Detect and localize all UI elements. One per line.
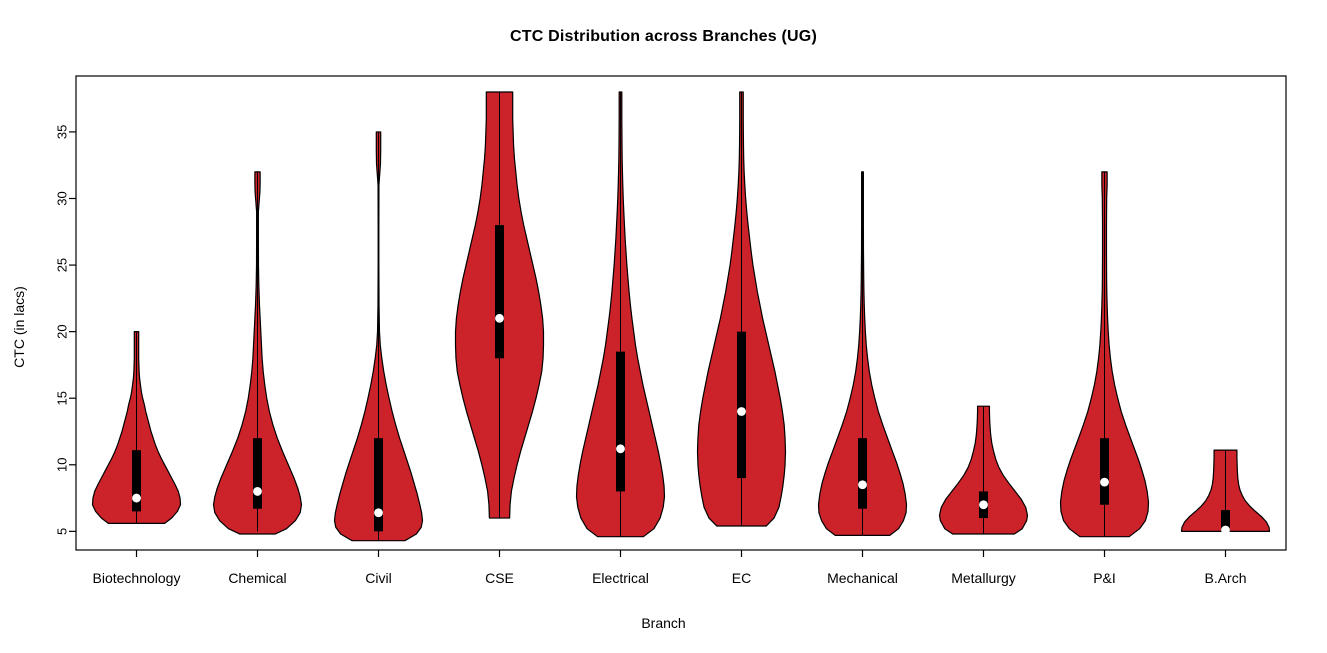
violin-ec bbox=[698, 92, 786, 526]
y-axis-tick-label: 15 bbox=[54, 391, 69, 405]
x-axis-tick-label-electrical: Electrical bbox=[592, 570, 649, 586]
median-point bbox=[253, 487, 262, 496]
violin-metallurgy bbox=[940, 406, 1028, 534]
y-axis-tick-label: 20 bbox=[54, 324, 69, 338]
y-axis-tick-label: 10 bbox=[54, 458, 69, 472]
median-point bbox=[858, 480, 867, 489]
iqr-box bbox=[253, 438, 262, 509]
iqr-box bbox=[858, 438, 867, 509]
x-axis-tick-label-b-arch: B.Arch bbox=[1204, 570, 1246, 586]
y-axis-tick-label: 30 bbox=[54, 191, 69, 205]
y-axis-tick-label: 35 bbox=[54, 125, 69, 139]
median-point bbox=[132, 494, 141, 503]
violin-p-i bbox=[1061, 172, 1149, 537]
iqr-box bbox=[1100, 438, 1109, 505]
violin-cse bbox=[456, 92, 544, 518]
median-point bbox=[979, 500, 988, 509]
x-axis-tick-label-biotechnology: Biotechnology bbox=[93, 570, 181, 586]
median-point bbox=[495, 314, 504, 323]
iqr-box bbox=[737, 332, 746, 478]
iqr-box bbox=[374, 438, 383, 531]
y-axis-tick-label: 25 bbox=[54, 258, 69, 272]
violin-biotechnology bbox=[93, 332, 181, 524]
iqr-box bbox=[616, 352, 625, 492]
iqr-box bbox=[495, 225, 504, 358]
violin-chemical bbox=[214, 172, 302, 534]
violin-mechanical bbox=[819, 172, 907, 535]
violin-b-arch bbox=[1182, 450, 1270, 534]
median-point bbox=[1100, 478, 1109, 487]
violin-electrical bbox=[577, 92, 665, 537]
median-point bbox=[1221, 526, 1230, 535]
x-axis-tick-label-civil: Civil bbox=[365, 570, 391, 586]
violin-plot-page: CTC Distribution across Branches (UG) CT… bbox=[0, 0, 1327, 653]
violin-chart-canvas: 5101520253035BiotechnologyChemicalCivilC… bbox=[0, 0, 1327, 653]
violin-civil bbox=[335, 132, 423, 541]
median-point bbox=[616, 444, 625, 453]
x-axis-tick-label-metallurgy: Metallurgy bbox=[951, 570, 1016, 586]
x-axis-tick-label-cse: CSE bbox=[485, 570, 514, 586]
x-axis-tick-label-chemical: Chemical bbox=[228, 570, 286, 586]
x-axis-tick-label-p-i: P&I bbox=[1093, 570, 1116, 586]
median-point bbox=[374, 508, 383, 517]
y-axis-tick-label: 5 bbox=[54, 528, 69, 535]
x-axis-tick-label-mechanical: Mechanical bbox=[827, 570, 898, 586]
violin-series-layer bbox=[93, 92, 1270, 541]
median-point bbox=[737, 407, 746, 416]
x-axis-tick-label-ec: EC bbox=[732, 570, 751, 586]
